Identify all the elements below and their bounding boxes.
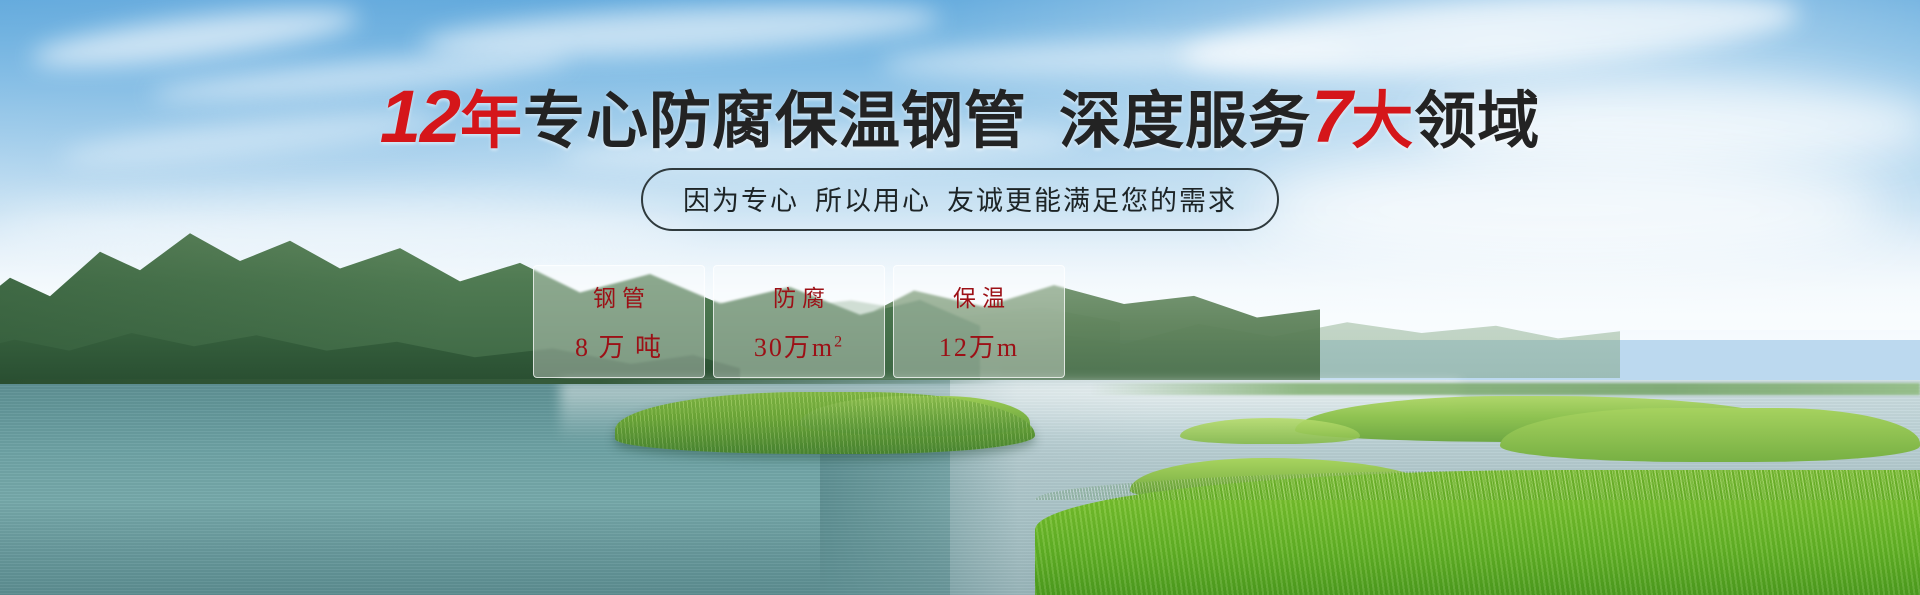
far-bank <box>1090 383 1920 395</box>
stat-card-value-text: 30万m <box>754 333 834 362</box>
subtitle-pill: 因为专心所以用心友诚更能满足您的需求 <box>641 168 1279 231</box>
headline-years-unit: 年 <box>460 87 523 156</box>
stat-card-value-text: 8 万 吨 <box>575 333 663 362</box>
stat-card-value: 30万m2 <box>754 327 844 364</box>
subtitle-part-2: 所以用心 <box>815 186 931 216</box>
stat-card-value-text: 12万m <box>939 333 1019 362</box>
stat-card-label: 防腐 <box>767 279 831 313</box>
stat-card-insulation[interactable]: 保温 12万m <box>893 265 1065 378</box>
headline-second-text: 深度服务 <box>1059 87 1311 156</box>
headline-years-number: 12 <box>380 75 460 158</box>
stat-card-anticorrosion[interactable]: 防腐 30万m2 <box>713 265 885 378</box>
subtitle-part-3: 友诚更能满足您的需求 <box>947 186 1237 216</box>
headline-main-text: 专心防腐保温钢管 <box>523 87 1027 156</box>
stat-card-steel-pipe[interactable]: 钢管 8 万 吨 <box>533 265 705 378</box>
stat-card-value: 8 万 吨 <box>575 327 663 364</box>
marsh-patch <box>1500 408 1920 462</box>
page-title: 12年专心防腐保温钢管深度服务7大领域 <box>0 78 1920 156</box>
grass-island-texture <box>615 392 1035 454</box>
stat-card-value-exponent: 2 <box>834 333 844 350</box>
subtitle-part-1: 因为专心 <box>683 186 799 216</box>
headline-tail-text: 领域 <box>1414 87 1540 156</box>
far-shoreline <box>0 379 1000 384</box>
headline-highlight-unit: 大 <box>1351 87 1414 156</box>
stat-card-label: 保温 <box>947 279 1011 313</box>
stat-cards: 钢管 8 万 吨 防腐 30万m2 保温 12万m <box>533 265 1065 378</box>
hero-banner: 12年专心防腐保温钢管深度服务7大领域 因为专心所以用心友诚更能满足您的需求 钢… <box>0 0 1920 595</box>
subtitle-container: 因为专心所以用心友诚更能满足您的需求 <box>0 168 1920 231</box>
headline-highlight-number: 7 <box>1311 75 1351 158</box>
stat-card-label: 钢管 <box>587 279 651 313</box>
stat-card-value: 12万m <box>939 327 1019 364</box>
